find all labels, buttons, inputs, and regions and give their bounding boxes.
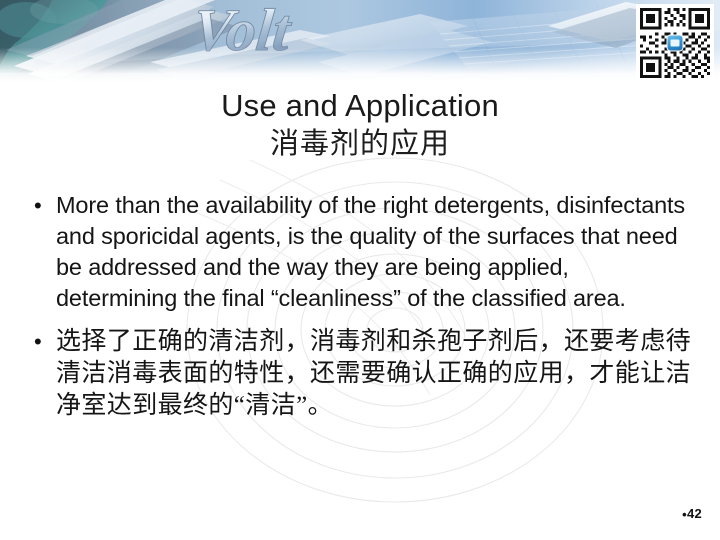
page-title: Use and Application bbox=[0, 88, 720, 124]
page-number: •42 bbox=[682, 506, 702, 522]
bullet-text-chinese: 选择了正确的清洁剂，消毒剂和杀孢子剂后，还要考虑待清洁消毒表面的特性，还需要确认… bbox=[56, 326, 692, 422]
bullet-item-chinese: • 选择了正确的清洁剂，消毒剂和杀孢子剂后，还要考虑待清洁消毒表面的特性，还需要… bbox=[28, 326, 692, 422]
body-content: • More than the availability of the righ… bbox=[28, 190, 692, 422]
bullet-text-english: More than the availability of the right … bbox=[56, 190, 692, 314]
bullet-marker-icon: • bbox=[28, 326, 56, 358]
qr-center-logo-icon bbox=[667, 35, 684, 52]
slide: Volt bbox=[0, 0, 720, 540]
bullet-item-english: • More than the availability of the righ… bbox=[28, 190, 692, 314]
header-banner: Volt bbox=[0, 0, 720, 82]
title-block: Use and Application 消毒剂的应用 bbox=[0, 88, 720, 162]
qr-code[interactable] bbox=[636, 4, 714, 82]
banner-artwork: Volt bbox=[0, 0, 720, 82]
page-number-value: 42 bbox=[687, 506, 702, 521]
bullet-marker-icon: • bbox=[28, 190, 56, 221]
page-subtitle-chinese: 消毒剂的应用 bbox=[0, 126, 720, 162]
